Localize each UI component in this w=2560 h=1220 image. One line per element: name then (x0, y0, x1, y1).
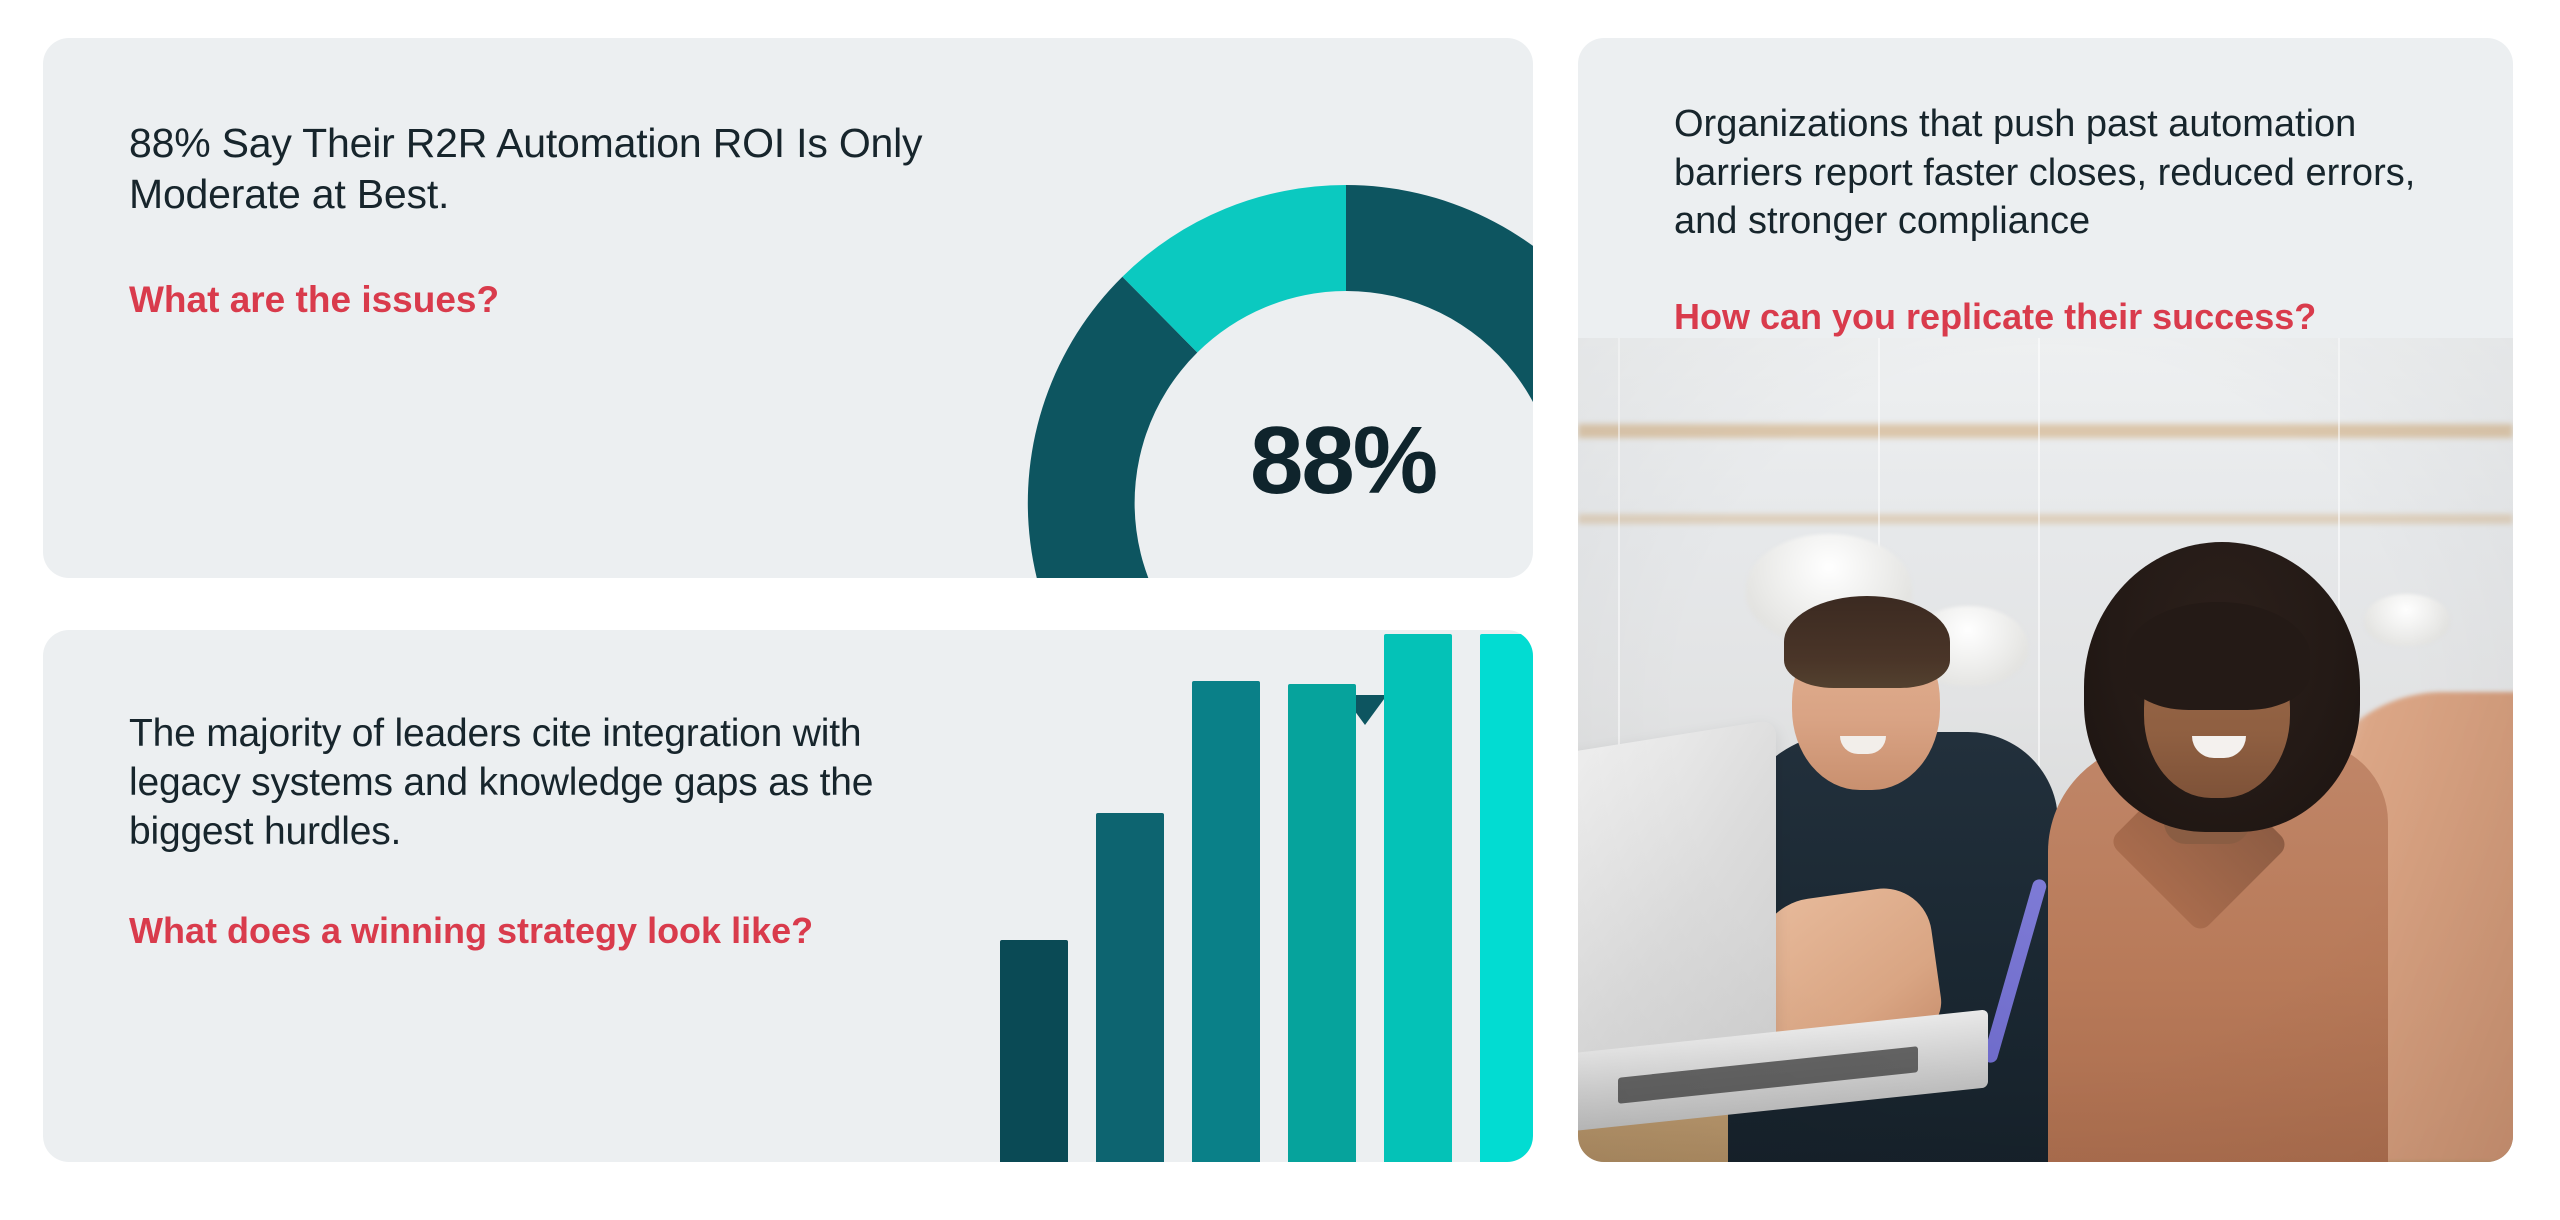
slide-canvas: 88% Say Their R2R Automation ROI Is Only… (0, 0, 2560, 1220)
bar-3 (1192, 681, 1260, 1162)
photo-vignette (1578, 338, 2513, 1162)
bar-5 (1384, 634, 1452, 1162)
donut-chart: 88% (988, 38, 1533, 578)
panel-success-subline: How can you replicate their success? (1674, 294, 2434, 339)
card-hurdles-text-block: The majority of leaders cite integration… (129, 710, 919, 953)
bar-1 (1000, 940, 1068, 1162)
office-team-photo (1578, 338, 2513, 1162)
card-roi-subline: What are the issues? (129, 277, 929, 323)
panel-success-text-block: Organizations that push past automation … (1674, 100, 2434, 339)
card-roi-donut: 88% Say Their R2R Automation ROI Is Only… (43, 38, 1533, 578)
bar-4 (1288, 684, 1356, 1162)
panel-success: Organizations that push past automation … (1578, 38, 2513, 1162)
card-hurdles-bars: The majority of leaders cite integration… (43, 630, 1533, 1162)
bar-chart (943, 630, 1533, 1162)
donut-center-value: 88% (988, 413, 1533, 509)
card-roi-text-block: 88% Say Their R2R Automation ROI Is Only… (129, 118, 929, 323)
bar-6 (1480, 634, 1533, 1162)
panel-success-headline: Organizations that push past automation … (1674, 100, 2434, 246)
card-hurdles-subline: What does a winning strategy look like? (129, 908, 919, 953)
bar-2 (1096, 813, 1164, 1162)
card-roi-headline: 88% Say Their R2R Automation ROI Is Only… (129, 118, 929, 221)
card-hurdles-headline: The majority of leaders cite integration… (129, 710, 919, 856)
